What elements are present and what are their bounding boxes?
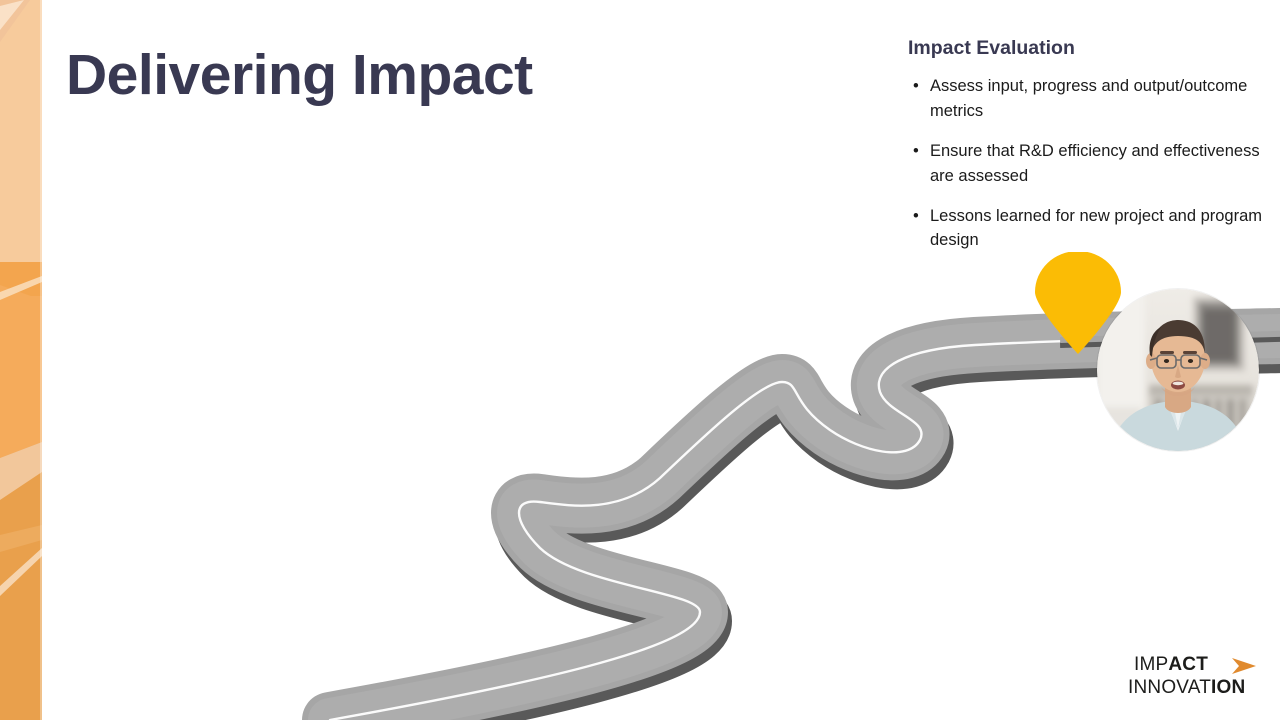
bullet-list: • Assess input, progress and output/outc… — [908, 74, 1274, 252]
impact-evaluation-panel: Impact Evaluation • Assess input, progre… — [908, 37, 1274, 253]
list-item-text: Ensure that R&D efficiency and effective… — [930, 142, 1260, 184]
slide-canvas: Delivering Impact Impact Evaluati — [0, 0, 1280, 720]
logo-impact-bold: ACT — [1168, 654, 1208, 675]
logo-line-impact: IMPACT — [1134, 655, 1208, 674]
list-item: • Ensure that R&D efficiency and effecti… — [908, 139, 1274, 188]
logo-impact-light: IMP — [1134, 654, 1168, 675]
logo-innovation-light: INNOVAT — [1128, 677, 1211, 698]
list-item: • Lessons learned for new project and pr… — [908, 204, 1274, 253]
speaker-video-avatar — [1097, 289, 1259, 451]
logo-arrow-icon — [1231, 657, 1257, 675]
bullet-dot-icon: • — [913, 139, 919, 163]
logo-line-innovation: INNOVATION — [1128, 678, 1245, 697]
page-title: Delivering Impact — [66, 44, 533, 107]
brand-logo: IMPACT INNOVATION — [1128, 655, 1268, 703]
decorative-orange-band — [0, 0, 42, 720]
bullet-dot-icon: • — [913, 74, 919, 98]
list-item: • Assess input, progress and output/outc… — [908, 74, 1274, 123]
list-item-text: Lessons learned for new project and prog… — [930, 207, 1262, 249]
panel-heading: Impact Evaluation — [908, 37, 1274, 60]
list-item-text: Assess input, progress and output/outcom… — [930, 77, 1247, 119]
bullet-dot-icon: • — [913, 204, 919, 228]
logo-innovation-bold: ION — [1211, 677, 1245, 698]
